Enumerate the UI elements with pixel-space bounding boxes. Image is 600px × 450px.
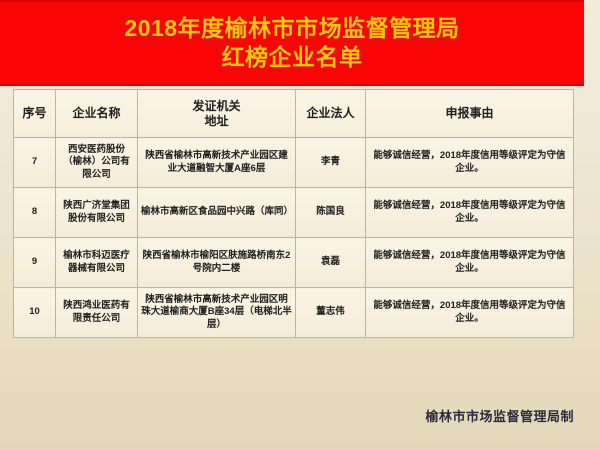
cell-address: 陕西省榆林市高新技术产业园区明珠大道榆商大厦B座34层（电梯北半层） bbox=[138, 288, 296, 338]
cell-reason: 能够诚信经营，2018年度信用等级评定为守信企业。 bbox=[366, 238, 574, 288]
cell-legal-person: 李青 bbox=[296, 138, 366, 188]
issuing-authority-footer: 榆林市市场监督管理局制 bbox=[425, 406, 574, 425]
column-header-legal-person: 企业法人 bbox=[296, 90, 366, 138]
cell-company-name: 西安医药股份（榆林）公司有限公司 bbox=[56, 138, 138, 188]
table-header-row: 序号 企业名称 发证机关 地址 企业法人 申报事由 bbox=[14, 90, 574, 138]
column-header-reason: 申报事由 bbox=[366, 90, 574, 138]
cell-index: 7 bbox=[14, 138, 56, 188]
table-row: 8 陕西广济堂集团股份有限公司 榆林市高新区食品园中兴路（库同） 陈国良 能够诚… bbox=[14, 188, 574, 238]
cell-legal-person: 陈国良 bbox=[296, 188, 366, 238]
table-row: 10 陕西鸿业医药有限责任公司 陕西省榆林市高新技术产业园区明珠大道榆商大厦B座… bbox=[14, 288, 574, 338]
title-line-2: 红榜企业名单 bbox=[222, 43, 363, 72]
column-header-index: 序号 bbox=[14, 90, 56, 138]
cell-address: 陕西省榆林市榆阳区肤施路桥南东2号院内二楼 bbox=[138, 238, 296, 288]
cell-index: 9 bbox=[14, 238, 56, 288]
cell-legal-person: 董志伟 bbox=[296, 288, 366, 338]
cell-address: 榆林市高新区食品园中兴路（库同） bbox=[138, 188, 296, 238]
cell-company-name: 榆林市科迈医疗器械有限公司 bbox=[56, 238, 138, 288]
cell-legal-person: 袁磊 bbox=[296, 238, 366, 288]
cell-index: 10 bbox=[14, 288, 56, 338]
column-header-company-name: 企业名称 bbox=[56, 90, 138, 138]
cell-index: 8 bbox=[14, 188, 56, 238]
cell-reason: 能够诚信经营，2018年度信用等级评定为守信企业。 bbox=[366, 288, 574, 338]
title-banner: 2018年度榆林市市场监督管理局 红榜企业名单 bbox=[0, 0, 584, 86]
table-row: 7 西安医药股份（榆林）公司有限公司 陕西省榆林市高新技术产业园区建业大道融智大… bbox=[14, 138, 574, 188]
cell-company-name: 陕西鸿业医药有限责任公司 bbox=[56, 288, 138, 338]
cell-address: 陕西省榆林市高新技术产业园区建业大道融智大厦A座6层 bbox=[138, 138, 296, 188]
column-header-issuing-authority-address: 发证机关 地址 bbox=[138, 90, 296, 138]
cell-company-name: 陕西广济堂集团股份有限公司 bbox=[56, 188, 138, 238]
cell-reason: 能够诚信经营，2018年度信用等级评定为守信企业。 bbox=[366, 138, 574, 188]
company-table-container: 序号 企业名称 发证机关 地址 企业法人 申报事由 7 西安医药股份（榆林）公司… bbox=[13, 89, 573, 338]
column-header-line-2: 地址 bbox=[204, 114, 228, 128]
column-header-line-1: 发证机关 bbox=[192, 99, 240, 113]
title-line-1: 2018年度榆林市市场监督管理局 bbox=[124, 14, 459, 43]
company-table: 序号 企业名称 发证机关 地址 企业法人 申报事由 7 西安医药股份（榆林）公司… bbox=[13, 89, 574, 338]
document-page: 2018年度榆林市市场监督管理局 红榜企业名单 序号 企业名称 发证机关 地址 bbox=[0, 0, 600, 450]
table-row: 9 榆林市科迈医疗器械有限公司 陕西省榆林市榆阳区肤施路桥南东2号院内二楼 袁磊… bbox=[14, 238, 574, 288]
cell-reason: 能够诚信经营，2018年度信用等级评定为守信企业。 bbox=[366, 188, 574, 238]
